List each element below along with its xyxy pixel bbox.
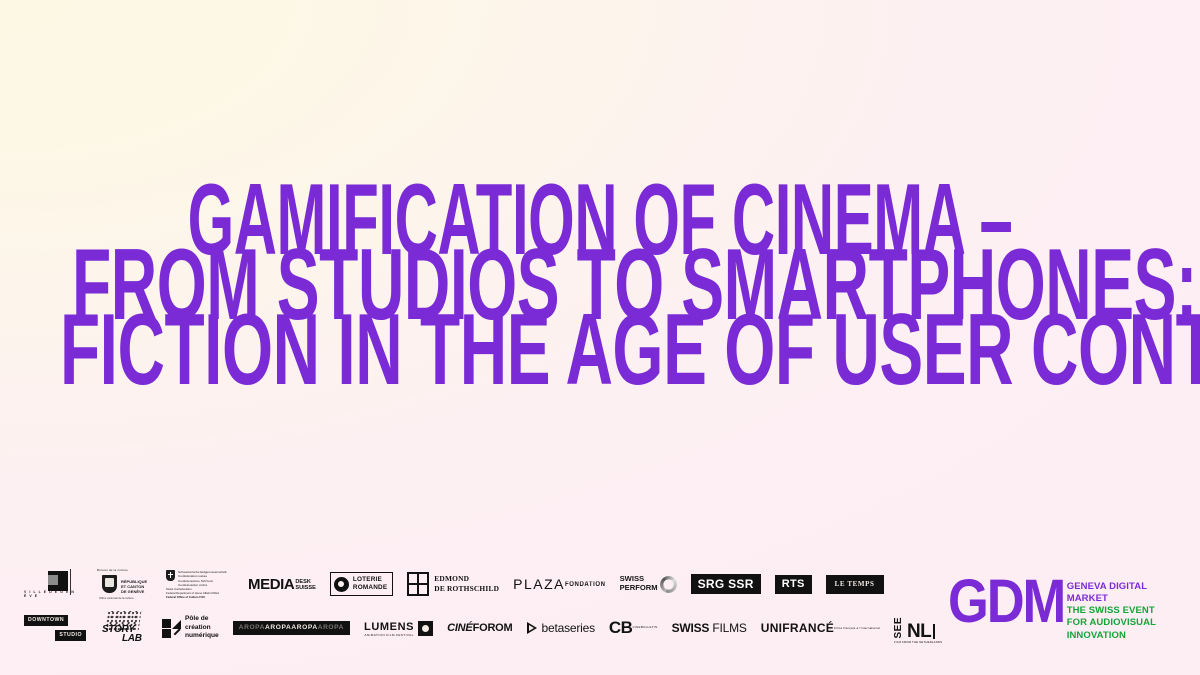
confederation-office-lines: Swiss Confederation Federal Department o… bbox=[166, 587, 219, 600]
aropa-line-3: AROPA bbox=[291, 624, 317, 632]
swissperform-swoosh-icon bbox=[660, 576, 677, 593]
plaza-main-label: PLAZA bbox=[513, 577, 565, 591]
gdm-tagline-line-1: THE SWISS EVENT bbox=[1067, 605, 1156, 617]
unifrance-sub-label: Films français à l'international bbox=[834, 627, 880, 630]
lumens-sub-label: ANIMATION FILM FESTIVAL bbox=[364, 634, 414, 637]
lumens-main-label: LUMENS bbox=[364, 621, 414, 633]
canton-name-label: RÉPUBLIQUE ET CANTON DE GENÈVE bbox=[121, 579, 147, 594]
canton-top-label: Bureau de la culture bbox=[97, 569, 128, 572]
edmond-line-1: EDMOND bbox=[434, 574, 469, 583]
canton-name-line-3: DE GENÈVE bbox=[121, 589, 144, 594]
gdm-wordmark: GDM bbox=[948, 578, 1064, 626]
pole-label: Pôle de création numérique bbox=[185, 615, 219, 641]
logo-plaza[interactable]: PLAZA FONDATION bbox=[513, 577, 605, 591]
loterie-romande-label: LOTERIE ROMANDE bbox=[353, 576, 387, 591]
pole-arrow-icon bbox=[162, 619, 181, 638]
confederation-name-fr: Confédération suisse bbox=[178, 574, 207, 578]
cineforom-roman-part: FOROM bbox=[473, 623, 513, 634]
logo-aropa[interactable]: AROPA AROPA AROPA AROPA bbox=[233, 621, 350, 635]
logo-betaseries[interactable]: betaseries bbox=[527, 622, 595, 634]
logo-edmond-de-rothschild[interactable]: EDMOND DE ROTHSCHILD bbox=[407, 572, 499, 596]
media-desk-sub-line-1: DESK bbox=[295, 579, 311, 585]
title-line-3: FICTION IN THE AGE OF USER CONTENT bbox=[60, 308, 1140, 395]
confederation-sub-3: Federal Office of Culture FOC bbox=[166, 595, 205, 599]
swiss-cross-shield-icon bbox=[166, 570, 175, 581]
media-desk-sub-line-2: SUISSE bbox=[295, 585, 316, 591]
logo-unifrance[interactable]: UNIFRANCÉ Films français à l'internation… bbox=[761, 622, 880, 634]
logo-cineforom[interactable]: CINÉFOROM bbox=[447, 623, 512, 634]
logo-swissperform[interactable]: SWISS PERFORM bbox=[620, 575, 677, 593]
rothschild-crest-icon bbox=[407, 572, 429, 596]
logo-le-temps[interactable]: LE TEMPS bbox=[826, 575, 884, 594]
confederation-name-de: Schweizerische Eidgenossenschaft bbox=[178, 570, 227, 574]
cineforom-italic-part: CINÉ bbox=[447, 623, 472, 634]
logo-story-lab[interactable]: STORY LAB bbox=[100, 611, 148, 645]
gdm-tagline-line-3: INNOVATION bbox=[1067, 630, 1156, 642]
downtown-label: DOWNTOWN bbox=[24, 615, 68, 626]
lumens-square-icon bbox=[418, 621, 433, 636]
plaza-sub-label: FONDATION bbox=[565, 581, 606, 588]
aropa-line-2: AROPA bbox=[265, 624, 291, 632]
story-lab-line-2: LAB bbox=[122, 634, 142, 644]
logo-loterie-romande[interactable]: LOTERIE ROMANDE bbox=[330, 572, 393, 595]
logo-rts[interactable]: RTS bbox=[775, 575, 812, 594]
loterie-line-1: LOTERIE bbox=[353, 576, 382, 583]
play-triangle-icon bbox=[527, 622, 537, 634]
sponsor-row-2: DOWNTOWN STUDIO STORY LAB Pôle de créati… bbox=[24, 610, 794, 646]
lumens-text-group: LUMENS ANIMATION FILM FESTIVAL bbox=[364, 618, 414, 637]
cinebulletin-main-label: CB bbox=[609, 620, 633, 636]
logo-confederation-suisse[interactable]: Schweizerische Eidgenossenschaft Confédé… bbox=[166, 568, 234, 600]
sponsor-logo-strip: V I L L E D E G E N È V E Bureau de la c… bbox=[24, 566, 794, 646]
swiss-films-bold-part: SWISS bbox=[672, 622, 710, 634]
presentation-slide: GAMIFICATION OF CINEMA – FROM STUDIOS TO… bbox=[0, 0, 1200, 675]
cinebulletin-sub-label: CINEBULLETIN bbox=[632, 626, 657, 629]
gdm-brand-logo[interactable]: GDM GENEVA DIGITAL MARKET THE SWISS EVEN… bbox=[948, 578, 1156, 642]
pole-line-3: numérique bbox=[185, 632, 219, 639]
see-nl-see-label: SEE bbox=[894, 617, 904, 639]
studio-label: STUDIO bbox=[55, 630, 86, 641]
logo-lumens[interactable]: LUMENS ANIMATION FILM FESTIVAL bbox=[364, 618, 433, 637]
swissperform-line-1: SWISS bbox=[620, 574, 644, 583]
swissperform-label: SWISS PERFORM bbox=[620, 575, 658, 593]
loterie-line-2: ROMANDE bbox=[353, 584, 387, 591]
gdm-name-line-1: GENEVA DIGITAL bbox=[1067, 581, 1156, 593]
confederation-names: Schweizerische Eidgenossenschaft Confédé… bbox=[178, 570, 227, 588]
canton-bottom-label: Office cantonal de la culture bbox=[99, 597, 134, 600]
ville-de-geneve-inner-square-icon bbox=[48, 575, 58, 585]
edmond-de-rothschild-label: EDMOND DE ROTHSCHILD bbox=[434, 574, 499, 593]
slide-title: GAMIFICATION OF CINEMA – FROM STUDIOS TO… bbox=[0, 178, 1200, 370]
logo-srg-ssr[interactable]: SRG SSR bbox=[691, 574, 761, 594]
swissperform-line-2: PERFORM bbox=[620, 583, 658, 592]
loterie-romande-circle-icon bbox=[334, 577, 349, 592]
logo-ville-de-geneve-label: V I L L E D E G E N È V E bbox=[24, 591, 76, 598]
swiss-films-light-part: FILMS bbox=[712, 622, 746, 634]
sponsor-row-1: V I L L E D E G E N È V E Bureau de la c… bbox=[24, 566, 794, 602]
aropa-line-1: AROPA bbox=[239, 624, 265, 632]
logo-swiss-films[interactable]: SWISS FILMS bbox=[672, 622, 747, 634]
geneva-coat-of-arms-icon bbox=[102, 575, 117, 593]
gdm-tagline-line-2: FOR AUDIOVISUAL bbox=[1067, 617, 1156, 629]
see-nl-nl-label: NL bbox=[907, 624, 935, 639]
aropa-line-4: AROPA bbox=[318, 624, 344, 632]
edmond-line-2: DE ROTHSCHILD bbox=[434, 584, 499, 593]
confederation-name-it: Confederazione Svizzera bbox=[178, 579, 213, 583]
media-desk-sub-label: DESK SUISSE bbox=[295, 579, 316, 592]
pole-line-1: Pôle de bbox=[185, 615, 208, 622]
logo-downtown-studio[interactable]: DOWNTOWN STUDIO bbox=[24, 614, 86, 642]
logo-pole-de-creation-numerique[interactable]: Pôle de création numérique bbox=[162, 615, 219, 641]
gdm-name-line-2: MARKET bbox=[1067, 593, 1156, 605]
logo-republique-canton-geneve[interactable]: Bureau de la culture RÉPUBLIQUE ET CANTO… bbox=[90, 568, 152, 600]
betaseries-label: betaseries bbox=[542, 622, 595, 634]
logo-ville-de-geneve[interactable]: V I L L E D E G E N È V E bbox=[24, 569, 76, 599]
logo-see-nl[interactable]: SEE NL FILM FROM THE NETHERLANDS bbox=[894, 617, 935, 639]
unifrance-main-label: UNIFRANCÉ bbox=[761, 622, 834, 634]
pole-line-2: création bbox=[185, 624, 211, 631]
see-nl-sub-label: FILM FROM THE NETHERLANDS bbox=[894, 641, 942, 644]
gdm-brand-text: GENEVA DIGITAL MARKET THE SWISS EVENT FO… bbox=[1067, 581, 1156, 642]
logo-cinebulletin[interactable]: CB CINEBULLETIN bbox=[609, 620, 658, 636]
media-desk-main-label: MEDIA bbox=[248, 577, 294, 592]
logo-media-desk-suisse[interactable]: MEDIA DESK SUISSE bbox=[248, 577, 316, 592]
